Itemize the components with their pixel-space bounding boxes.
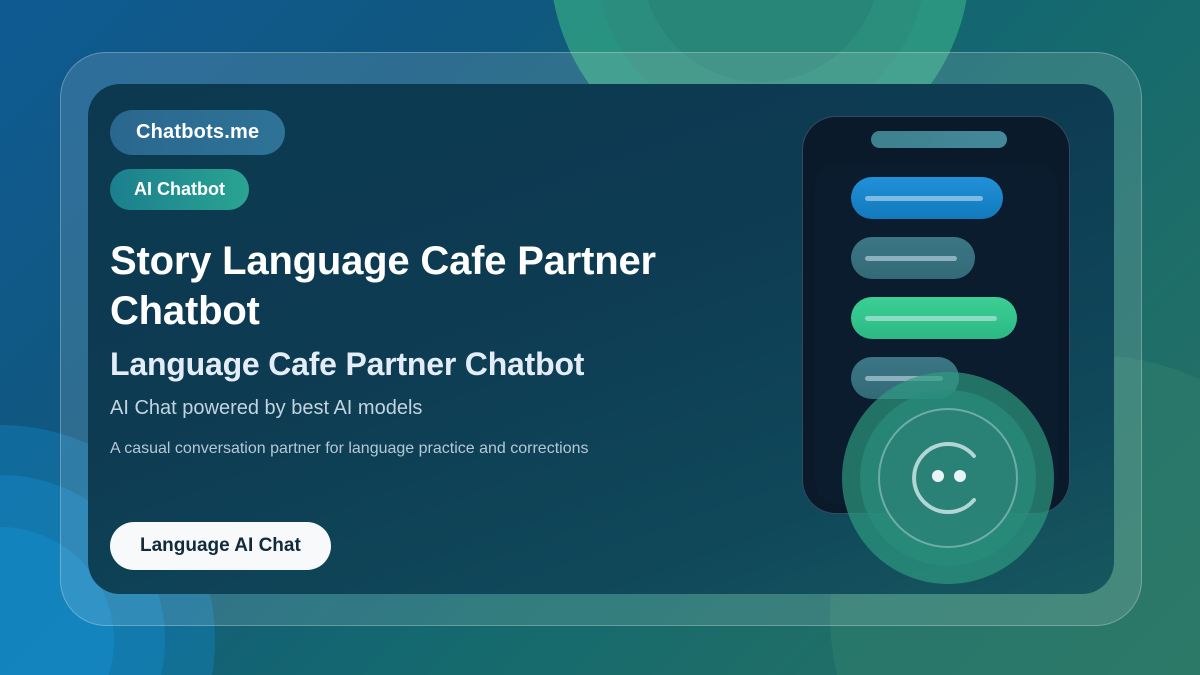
- language-ai-chat-button[interactable]: Language AI Chat: [110, 522, 331, 570]
- bubble-text-line: [865, 316, 997, 321]
- avatar-ring-inner: [878, 408, 1018, 548]
- description-text: A casual conversation partner for langua…: [110, 440, 770, 458]
- promo-card: Chatbots.me AI Chatbot Story Language Ca…: [88, 84, 1114, 594]
- card-content: Chatbots.me AI Chatbot Story Language Ca…: [110, 110, 770, 458]
- avatar-ring-mid: [860, 390, 1036, 566]
- chatbot-avatar: [842, 372, 1054, 584]
- chat-bubble-user-1: [851, 177, 1003, 219]
- smiley-chat-icon: [896, 426, 1000, 530]
- category-badge[interactable]: AI Chatbot: [110, 169, 249, 210]
- brand-badge[interactable]: Chatbots.me: [110, 110, 285, 155]
- chat-bubble-user-2: [851, 297, 1017, 339]
- phone-header-bar: [871, 131, 1007, 148]
- page-title: Story Language Cafe Partner Chatbot: [110, 236, 730, 336]
- bubble-text-line: [865, 196, 983, 201]
- bubble-text-line: [865, 256, 957, 261]
- page-subtitle: Language Cafe Partner Chatbot: [110, 346, 770, 383]
- chat-bubble-bot-1: [851, 237, 975, 279]
- tagline-text: AI Chat powered by best AI models: [110, 397, 770, 420]
